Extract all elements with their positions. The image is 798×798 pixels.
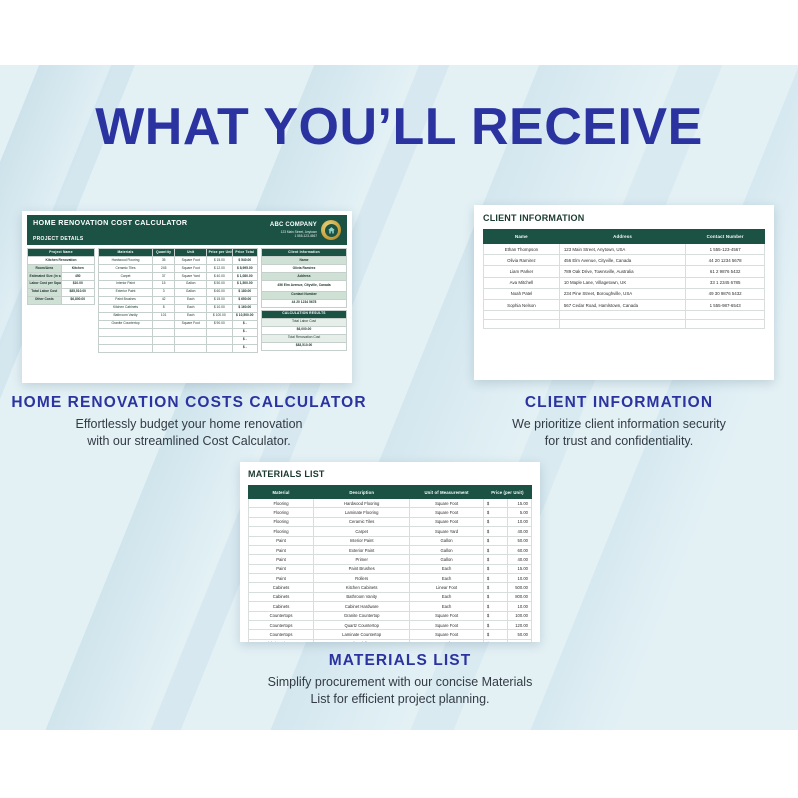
col-materials: Materials xyxy=(99,249,153,257)
cell-client-name: Sophia Nelson xyxy=(484,299,560,310)
cell-currency: $ xyxy=(483,611,507,620)
cell-client-address: 234 Pine Street, Boroughville, USA xyxy=(559,288,685,299)
company-name: ABC COMPANY xyxy=(270,222,317,230)
table-row: FlooringLaminate FlooringSquare Foot$5.0… xyxy=(249,508,532,517)
project-details-table: Project Name Kitchen Renovation Room/Are… xyxy=(27,248,95,305)
cell-description: Quartz Countertop xyxy=(314,620,410,629)
cell-unit-price: $ 50.00 xyxy=(207,280,232,288)
table-row: Liam Parker789 Oak Drive, Townsville, Au… xyxy=(484,266,765,277)
cell-empty xyxy=(686,320,765,329)
col-price-total: Price Total xyxy=(232,249,257,257)
cell-material: Paint xyxy=(249,545,314,554)
cell-empty xyxy=(484,320,560,329)
cell-quantity: 37 xyxy=(153,272,175,280)
cell-material: Flooring xyxy=(249,527,314,536)
client-address-value[interactable]: 456 Elm Avenue, Cityville, Canada xyxy=(262,280,347,291)
cell-currency: $ xyxy=(483,630,507,639)
caption-materials: MATERIALS LIST Simplify procurement with… xyxy=(200,652,600,708)
cell-unit-price: $ 90.00 xyxy=(207,320,232,328)
cell-material: Paint xyxy=(249,555,314,564)
cell-description: Exterior Paint xyxy=(314,545,410,554)
table-row: Interior Paint15Gallon$ 50.00$ 1,500.00 xyxy=(99,280,258,288)
table-row: Carpet37Square Yard$ 40.00$ 1,080.00 xyxy=(99,272,258,280)
cell-material xyxy=(99,344,153,352)
table-row: CountertopsLaminate CountertopSquare Foo… xyxy=(249,630,532,639)
cell-empty xyxy=(559,320,685,329)
col-address: Address xyxy=(559,230,685,244)
caption-materials-title: MATERIALS LIST xyxy=(200,652,600,670)
cell-quantity xyxy=(153,336,175,344)
cell-client-name: Olivia Ramirez xyxy=(484,255,560,266)
col-contact-number: Contact Number xyxy=(686,230,765,244)
cell-empty xyxy=(686,311,765,320)
cell-total: $ 160.00 xyxy=(232,304,257,312)
cell-currency: $ xyxy=(483,592,507,601)
company-block: ABC COMPANY 123 Main Street, Anytown 1 5… xyxy=(270,222,317,238)
materials-list-sheet-card: MATERIALS LIST Material Description Unit… xyxy=(240,462,540,642)
caption-client: CLIENT INFORMATION We prioritize client … xyxy=(440,394,798,450)
house-badge-icon xyxy=(321,220,341,240)
room-area-label: Room/Area xyxy=(28,264,62,272)
table-row: Kitchen Renovation xyxy=(28,256,95,264)
company-phone: 1 555-123-4567 xyxy=(270,234,317,238)
cell-material: Cabinets xyxy=(249,583,314,592)
cell-unit: Gallon xyxy=(410,545,484,554)
cell-unit: Square Foot xyxy=(175,264,207,272)
table-row: Room/Area Kitchen xyxy=(28,264,95,272)
cell-quantity: 8 xyxy=(153,304,175,312)
cell-client-address: 123 Main Street, Anytown, USA xyxy=(559,244,685,255)
cell-unit: Each xyxy=(410,592,484,601)
caption-calculator-title: HOME RENOVATION COSTS CALCULATOR xyxy=(0,394,378,412)
cell-material: Lighting Fixtures xyxy=(249,639,314,642)
table-row: $ - xyxy=(99,344,258,352)
cell-unit: Square Foot xyxy=(410,508,484,517)
table-row: Labor Cost per Square ft $10.00 xyxy=(28,280,95,288)
cell-empty xyxy=(559,311,685,320)
cell-client-address: 567 Cedar Road, Hamlstown, Canada xyxy=(559,299,685,310)
calculator-subtitle: PROJECT DETAILS xyxy=(33,236,270,242)
cell-total: $ - xyxy=(232,336,257,344)
table-row: Granite CountertopSquare Foot$ 90.00$ - xyxy=(99,320,258,328)
cell-material: Countertops xyxy=(249,611,314,620)
results-header: CALCULATION RESULTS xyxy=(262,310,347,318)
cell-material: Exterior Paint xyxy=(99,288,153,296)
cell-currency: $ xyxy=(483,639,507,642)
cell-unit: Gallon xyxy=(410,536,484,545)
cell-unit xyxy=(175,344,207,352)
table-row: Olivia Ramirez456 Elm Avenue, Cityville,… xyxy=(484,255,765,266)
cell-unit: Square Foot xyxy=(410,499,484,508)
cell-currency: $ xyxy=(483,564,507,573)
cell-quantity xyxy=(153,328,175,336)
cell-material: Countertops xyxy=(249,620,314,629)
client-contact-label: Contact Number xyxy=(262,291,347,299)
results-row-label: Total Labor Cost xyxy=(262,318,347,326)
cell-unit-price xyxy=(207,344,232,352)
calculator-client-table: Client Information Name Olivia Ramirez A… xyxy=(261,248,347,308)
table-row: Lighting FixturesChandeliersEach$500.00 xyxy=(249,639,532,642)
project-details-column: Project Name Kitchen Renovation Room/Are… xyxy=(27,248,95,353)
cell-description: Paint Brushes xyxy=(314,564,410,573)
client-panel-header: Client Information xyxy=(262,249,347,257)
table-row: PaintRollersEach$10.00 xyxy=(249,574,532,583)
cell-description: Carpet xyxy=(314,527,410,536)
col-name: Name xyxy=(484,230,560,244)
materials-sheet-title: MATERIALS LIST xyxy=(248,469,532,479)
table-row: PaintPaint BrushesEach$15.00 xyxy=(249,564,532,573)
cell-total: $ - xyxy=(232,320,257,328)
cell-material: Countertops xyxy=(249,630,314,639)
table-row: Noah Patel234 Pine Street, Boroughville,… xyxy=(484,288,765,299)
caption-materials-line1: Simplify procurement with our concise Ma… xyxy=(200,674,600,691)
cell-unit: Each xyxy=(410,574,484,583)
cell-price: 5.00 xyxy=(507,508,531,517)
table-row: CabinetsKitchen CabinetsLinear Foot$500.… xyxy=(249,583,532,592)
cell-material: Paint xyxy=(249,536,314,545)
cell-material: Flooring xyxy=(249,499,314,508)
cell-unit-price: $ 15.00 xyxy=(207,296,232,304)
cell-material: Bathroom Vanity xyxy=(99,312,153,320)
caption-calculator-line1: Effortlessly budget your home renovation xyxy=(0,416,378,433)
table-header-row: Materials Quantity Unit Price per Unit P… xyxy=(99,249,258,257)
cell-description: Bathroom Vanity xyxy=(314,592,410,601)
table-row: PaintInterior PaintGallon$50.00 xyxy=(249,536,532,545)
table-row: Kitchen Cabinets8Each$ 10.00$ 160.00 xyxy=(99,304,258,312)
cell-material: Interior Paint xyxy=(99,280,153,288)
cell-quantity xyxy=(153,344,175,352)
caption-calculator-line2: with our streamlined Cost Calculator. xyxy=(0,433,378,450)
cell-material: Cabinets xyxy=(249,602,314,611)
cell-description: Hardwood Flooring xyxy=(314,499,410,508)
cell-price: 10.00 xyxy=(507,574,531,583)
cell-total: $ - xyxy=(232,344,257,352)
cell-price: 500.00 xyxy=(507,639,531,642)
cell-quantity: 101 xyxy=(153,312,175,320)
table-row: CabinetsBathroom VanityEach$800.00 xyxy=(249,592,532,601)
table-header-row: Material Description Unit of Measurement… xyxy=(249,486,532,499)
table-row: $ - xyxy=(99,328,258,336)
col-material: Material xyxy=(249,486,314,499)
cell-unit: Each xyxy=(175,304,207,312)
table-row: CountertopsGranite CountertopSquare Foot… xyxy=(249,611,532,620)
cell-total: $ 540.00 xyxy=(232,256,257,264)
cell-currency: $ xyxy=(483,574,507,583)
table-row: FlooringCarpetSquare Yard$40.00 xyxy=(249,527,532,536)
table-row: PaintPrimerGallon$40.00 xyxy=(249,555,532,564)
cell-client-contact: 33 1 2345 6785 xyxy=(686,277,765,288)
cell-total: $ 8,995.00 xyxy=(232,264,257,272)
cell-material xyxy=(99,328,153,336)
cell-client-contact: 44 20 1234 5678 xyxy=(686,255,765,266)
caption-client-title: CLIENT INFORMATION xyxy=(440,394,798,412)
client-information-body: Ethan Thompson123 Main Street, Anytown, … xyxy=(484,244,765,329)
calculation-results-table: CALCULATION RESULTS Total Labor Cost $6,… xyxy=(261,310,347,351)
cell-price: 800.00 xyxy=(507,592,531,601)
table-row: $ - xyxy=(99,336,258,344)
cell-currency: $ xyxy=(483,620,507,629)
cell-quantity: 15 xyxy=(153,280,175,288)
cell-client-address: 789 Oak Drive, Townsville, Australia xyxy=(559,266,685,277)
page-headline: WHAT YOU’LL RECEIVE xyxy=(0,98,798,156)
cell-currency: $ xyxy=(483,508,507,517)
cell-price: 50.00 xyxy=(507,536,531,545)
calculator-header-left: HOME RENOVATION COST CALCULATOR PROJECT … xyxy=(33,218,270,242)
cell-unit: Square Foot xyxy=(410,630,484,639)
col-description: Description xyxy=(314,486,410,499)
cell-total: $ 1,080.00 xyxy=(232,272,257,280)
cell-unit: Each xyxy=(410,639,484,642)
col-quantity: Quantity xyxy=(153,249,175,257)
results-row-value: $83,510.00 xyxy=(262,342,347,350)
cell-currency: $ xyxy=(483,555,507,564)
cell-unit: Square Foot xyxy=(410,620,484,629)
cell-quantity xyxy=(153,320,175,328)
cell-client-address: 456 Elm Avenue, Cityville, Canada xyxy=(559,255,685,266)
cell-unit: Square Foot xyxy=(175,320,207,328)
table-row: CabinetsCabinet HardwareEach$10.00 xyxy=(249,602,532,611)
table-row: Hardwood Flooring35Square Foot$ 15.00$ 5… xyxy=(99,256,258,264)
cell-client-name: Liam Parker xyxy=(484,266,560,277)
calculator-sheet-card: HOME RENOVATION COST CALCULATOR PROJECT … xyxy=(22,211,352,383)
estimated-size-label: Estimated Size (in square ft) xyxy=(28,272,62,280)
cell-currency: $ xyxy=(483,517,507,526)
table-row: FlooringCeramic TilesSquare Foot$10.00 xyxy=(249,517,532,526)
total-labor-cost-value: $85,510.00 xyxy=(61,288,95,296)
other-costs-value[interactable]: $6,800.00 xyxy=(61,296,95,304)
cell-unit-price: $ 10.00 xyxy=(207,304,232,312)
cell-description: Cabinet Hardware xyxy=(314,602,410,611)
cell-description: Kitchen Cabinets xyxy=(314,583,410,592)
caption-client-line1: We prioritize client information securit… xyxy=(440,416,798,433)
cell-price: 10.00 xyxy=(507,517,531,526)
cell-price: 15.00 xyxy=(507,564,531,573)
table-row: Total Labor Cost $85,510.00 xyxy=(28,288,95,296)
table-header-row: Name Address Contact Number xyxy=(484,230,765,244)
labor-cost-psf-value[interactable]: $10.00 xyxy=(61,280,95,288)
cell-client-contact: 61 2 9876 5432 xyxy=(686,266,765,277)
calculator-materials-body: Hardwood Flooring35Square Foot$ 15.00$ 5… xyxy=(99,256,258,352)
table-row: Ava Mitchell10 Maple Lane, Villagetown, … xyxy=(484,277,765,288)
cell-description: Interior Paint xyxy=(314,536,410,545)
cell-description: Ceramic Tiles xyxy=(314,517,410,526)
materials-list-table: Material Description Unit of Measurement… xyxy=(248,485,532,642)
cell-unit-price: $ 60.00 xyxy=(207,288,232,296)
cell-material: Paint xyxy=(249,564,314,573)
room-area-value[interactable]: Kitchen xyxy=(61,264,95,272)
cell-material: Flooring xyxy=(249,517,314,526)
cell-material: Granite Countertop xyxy=(99,320,153,328)
cell-price: 15.00 xyxy=(507,499,531,508)
materials-list-body: FlooringHardwood FlooringSquare Foot$15.… xyxy=(249,499,532,643)
cell-material: Ceramic Tiles xyxy=(99,264,153,272)
client-information-table: Name Address Contact Number Ethan Thomps… xyxy=(483,229,765,329)
client-information-sheet-card: CLIENT INFORMATION Name Address Contact … xyxy=(474,205,774,380)
cell-unit-price: $ 15.00 xyxy=(207,256,232,264)
client-sheet-title: CLIENT INFORMATION xyxy=(483,213,765,223)
cell-unit xyxy=(175,336,207,344)
cell-unit-price: $ 40.00 xyxy=(207,272,232,280)
cell-unit xyxy=(175,328,207,336)
calculator-client-column: Client Information Name Olivia Ramirez A… xyxy=(261,248,347,353)
cell-material: Cabinets xyxy=(249,592,314,601)
cell-client-contact: 1 555-123-4567 xyxy=(686,244,765,255)
table-row: CountertopsQuartz CountertopSquare Foot$… xyxy=(249,620,532,629)
cell-price: 60.00 xyxy=(507,545,531,554)
cell-currency: $ xyxy=(483,527,507,536)
cell-client-contact: 1 555-987-6543 xyxy=(686,299,765,310)
cell-unit: Gallon xyxy=(175,288,207,296)
cell-total: $ 1,500.00 xyxy=(232,280,257,288)
table-row: Paint Brushes42Each$ 15.00$ 650.00 xyxy=(99,296,258,304)
cell-material: Paint Brushes xyxy=(99,296,153,304)
caption-client-line2: for trust and confidentiality. xyxy=(440,433,798,450)
cell-description: Rollers xyxy=(314,574,410,583)
caption-materials-line2: List for efficient project planning. xyxy=(200,691,600,708)
cell-quantity: 3 xyxy=(153,288,175,296)
cell-price: 50.00 xyxy=(507,630,531,639)
cell-quantity: 245 xyxy=(153,264,175,272)
cell-total: $ 10,500.00 xyxy=(232,312,257,320)
house-icon xyxy=(325,224,338,237)
col-price-per-unit: Price per Unit xyxy=(207,249,232,257)
cell-material: Kitchen Cabinets xyxy=(99,304,153,312)
total-labor-cost-label: Total Labor Cost xyxy=(28,288,62,296)
page-root: WHAT YOU’LL RECEIVE HOME RENOVATION COST… xyxy=(0,0,798,798)
cell-description: Laminate Countertop xyxy=(314,630,410,639)
project-details-header: Project Name xyxy=(28,249,95,257)
cell-client-address: 10 Maple Lane, Villagetown, UK xyxy=(559,277,685,288)
table-row: Ethan Thompson123 Main Street, Anytown, … xyxy=(484,244,765,255)
cell-quantity: 42 xyxy=(153,296,175,304)
cell-currency: $ xyxy=(483,536,507,545)
cell-client-name: Noah Patel xyxy=(484,288,560,299)
cell-unit: Each xyxy=(410,602,484,611)
cell-currency: $ xyxy=(483,545,507,554)
cell-material: Hardwood Flooring xyxy=(99,256,153,264)
cell-unit: Square Foot xyxy=(410,611,484,620)
cell-unit-price xyxy=(207,328,232,336)
labor-cost-psf-label: Labor Cost per Square ft xyxy=(28,280,62,288)
cell-unit: Square Foot xyxy=(410,517,484,526)
cell-price: 40.00 xyxy=(507,555,531,564)
calculator-header: HOME RENOVATION COST CALCULATOR PROJECT … xyxy=(27,215,347,245)
cell-client-name: Ethan Thompson xyxy=(484,244,560,255)
cell-unit: Gallon xyxy=(410,555,484,564)
cell-total: $ - xyxy=(232,328,257,336)
col-price-per-unit: Price (per Unit) xyxy=(483,486,531,499)
cell-client-contact: 49 30 9876 5432 xyxy=(686,288,765,299)
cell-material xyxy=(99,336,153,344)
estimated-size-value[interactable]: 450 xyxy=(61,272,95,280)
calculator-header-right: ABC COMPANY 123 Main Street, Anytown 1 5… xyxy=(270,218,341,242)
cell-description: Chandeliers xyxy=(314,639,410,642)
calculator-body: Project Name Kitchen Renovation Room/Are… xyxy=(27,248,347,353)
cell-total: $ 650.00 xyxy=(232,296,257,304)
cell-price: 120.00 xyxy=(507,620,531,629)
table-row-empty xyxy=(484,311,765,320)
cell-material: Paint xyxy=(249,574,314,583)
table-row: Exterior Paint3Gallon$ 60.00$ 180.00 xyxy=(99,288,258,296)
col-unit-of-measurement: Unit of Measurement xyxy=(410,486,484,499)
cell-currency: $ xyxy=(483,499,507,508)
cell-unit-price: $ 100.00 xyxy=(207,312,232,320)
table-row: FlooringHardwood FlooringSquare Foot$15.… xyxy=(249,499,532,508)
caption-calculator: HOME RENOVATION COSTS CALCULATOR Effortl… xyxy=(0,394,378,450)
calculator-title: HOME RENOVATION COST CALCULATOR xyxy=(33,218,270,227)
table-row-empty xyxy=(484,320,765,329)
cell-unit: Linear Foot xyxy=(410,583,484,592)
table-row: Other Costs $6,800.00 xyxy=(28,296,95,304)
results-row-value: $6,000.00 xyxy=(262,326,347,334)
col-unit: Unit xyxy=(175,249,207,257)
cell-price: 10.00 xyxy=(507,602,531,611)
cell-total: $ 180.00 xyxy=(232,288,257,296)
cell-unit: Gallon xyxy=(175,280,207,288)
cell-client-name: Ava Mitchell xyxy=(484,277,560,288)
cell-price: 40.00 xyxy=(507,527,531,536)
table-row: Sophia Nelson567 Cedar Road, Hamlstown, … xyxy=(484,299,765,310)
cell-unit: Square Foot xyxy=(175,256,207,264)
cell-quantity: 35 xyxy=(153,256,175,264)
cell-currency: $ xyxy=(483,583,507,592)
table-row: Ceramic Tiles245Square Foot$ 12.00$ 8,99… xyxy=(99,264,258,272)
table-row: PaintExterior PaintGallon$60.00 xyxy=(249,545,532,554)
cell-price: 100.00 xyxy=(507,611,531,620)
cell-unit: Square Yard xyxy=(410,527,484,536)
table-row: Bathroom Vanity101Each$ 100.00$ 10,500.0… xyxy=(99,312,258,320)
cell-description: Laminate Flooring xyxy=(314,508,410,517)
cell-unit-price xyxy=(207,336,232,344)
cell-unit: Each xyxy=(410,564,484,573)
cell-description: Primer xyxy=(314,555,410,564)
client-name-label: Name xyxy=(262,256,347,264)
cell-unit: Each xyxy=(175,312,207,320)
table-row: Estimated Size (in square ft) 450 xyxy=(28,272,95,280)
calculator-materials-column: Materials Quantity Unit Price per Unit P… xyxy=(98,248,258,353)
cell-currency: $ xyxy=(483,602,507,611)
cell-unit-price: $ 12.00 xyxy=(207,264,232,272)
cell-material: Carpet xyxy=(99,272,153,280)
cell-empty xyxy=(484,311,560,320)
calculator-materials-table: Materials Quantity Unit Price per Unit P… xyxy=(98,248,258,353)
client-name-value[interactable]: Olivia Ramirez xyxy=(262,264,347,272)
other-costs-label: Other Costs xyxy=(28,296,62,304)
results-row-label: Total Renovation Cost xyxy=(262,334,347,342)
cell-unit: Square Yard xyxy=(175,272,207,280)
cell-price: 500.00 xyxy=(507,583,531,592)
cell-material: Flooring xyxy=(249,508,314,517)
cell-description: Granite Countertop xyxy=(314,611,410,620)
client-address-label: Address xyxy=(262,272,347,280)
project-name-value[interactable]: Kitchen Renovation xyxy=(28,256,95,264)
cell-unit: Each xyxy=(175,296,207,304)
client-contact-value[interactable]: 44 20 1234 5678 xyxy=(262,299,347,307)
